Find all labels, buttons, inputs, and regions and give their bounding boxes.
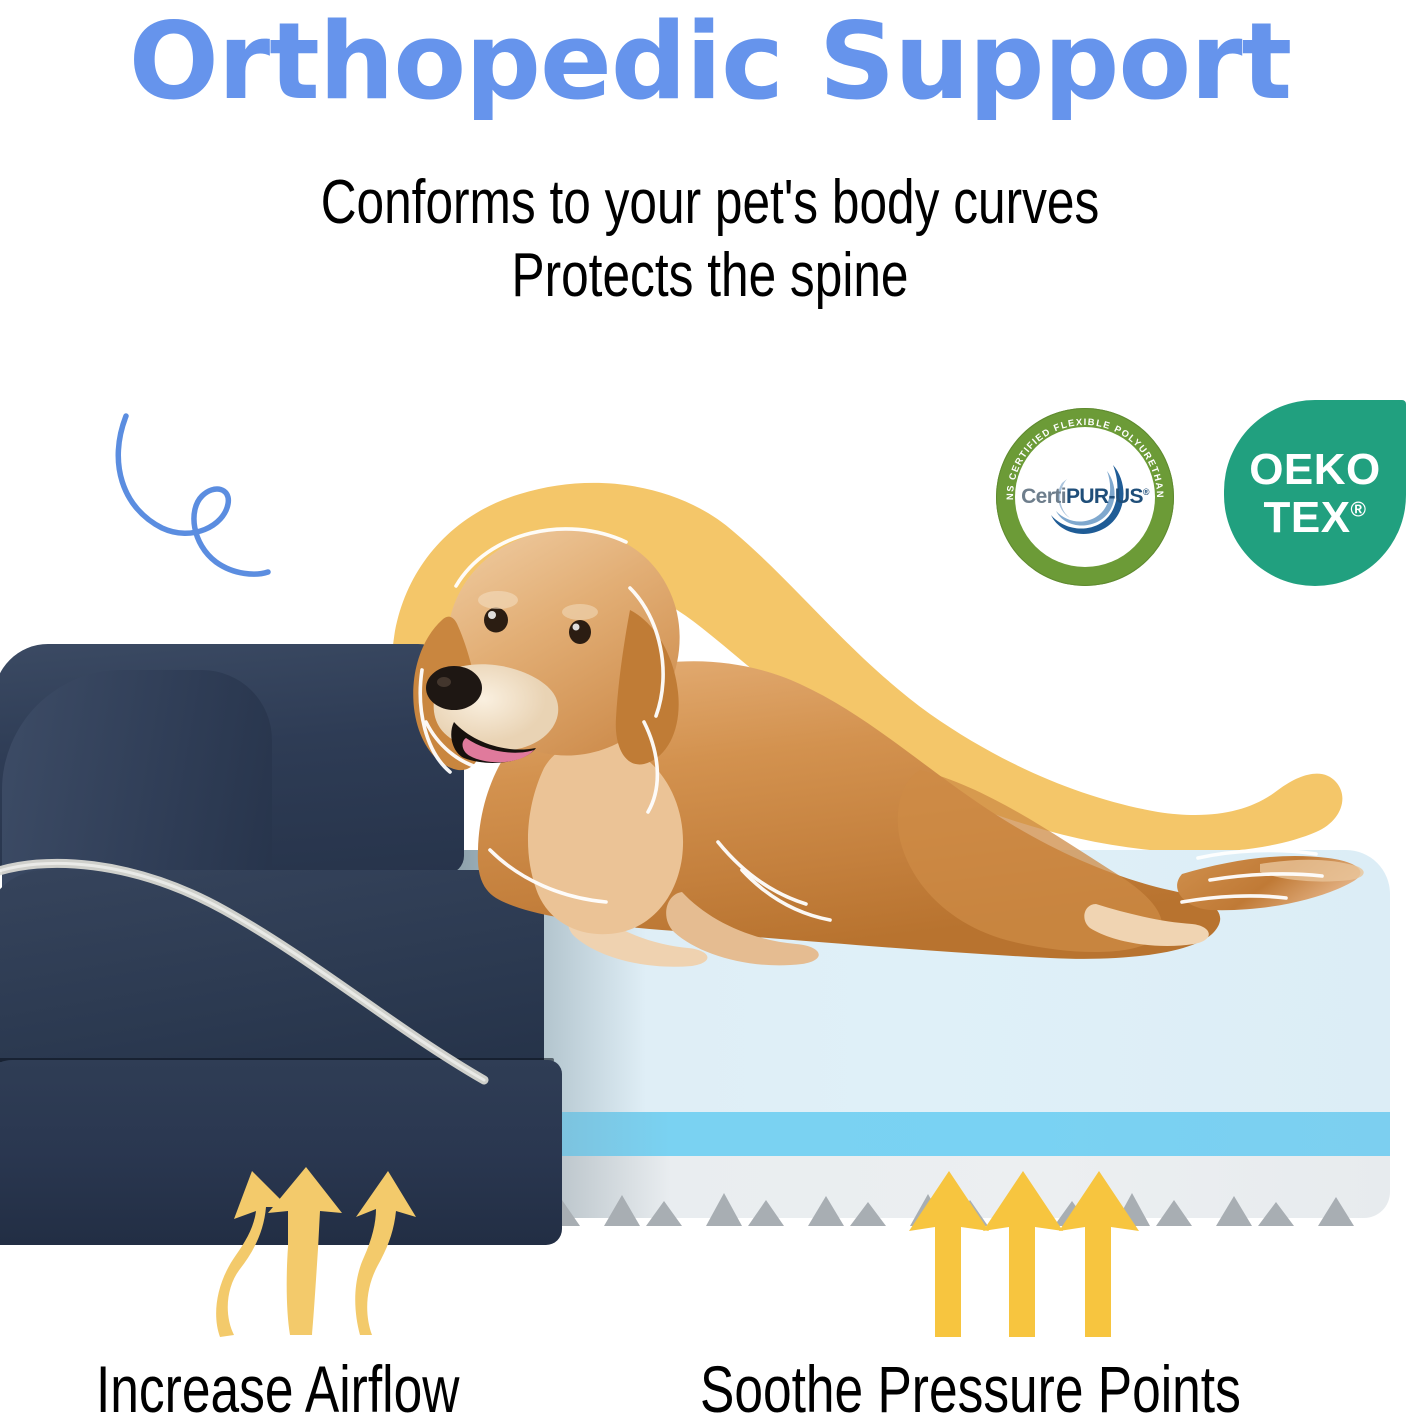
certipur-registered-mark: ® — [1143, 487, 1149, 497]
dog-contour-accent-lines — [330, 470, 1380, 990]
benefit-label-airflow: Increase Airflow — [96, 1352, 459, 1426]
page-subtitle: Conforms to your pet's body curves Prote… — [142, 166, 1278, 312]
subtitle-line-2: Protects the spine — [142, 239, 1278, 312]
page-title: Orthopedic Support — [0, 8, 1420, 116]
benefit-labels: Increase Airflow Soothe Pressure Points — [0, 1352, 1420, 1426]
subtitle-line-1: Conforms to your pet's body curves — [142, 166, 1278, 239]
benefit-label-pressure: Soothe Pressure Points — [700, 1352, 1241, 1426]
airflow-arrows — [160, 1155, 420, 1340]
pressure-relief-arrows — [905, 1165, 1145, 1340]
certipur-wordmark-part2: PUR-US — [1066, 485, 1143, 508]
certipur-wordmark: CertiPUR-US® — [1015, 485, 1155, 509]
infographic-canvas: Orthopedic Support Conforms to your pet'… — [0, 0, 1420, 1426]
certipur-wordmark-part1: Certi — [1021, 485, 1066, 508]
